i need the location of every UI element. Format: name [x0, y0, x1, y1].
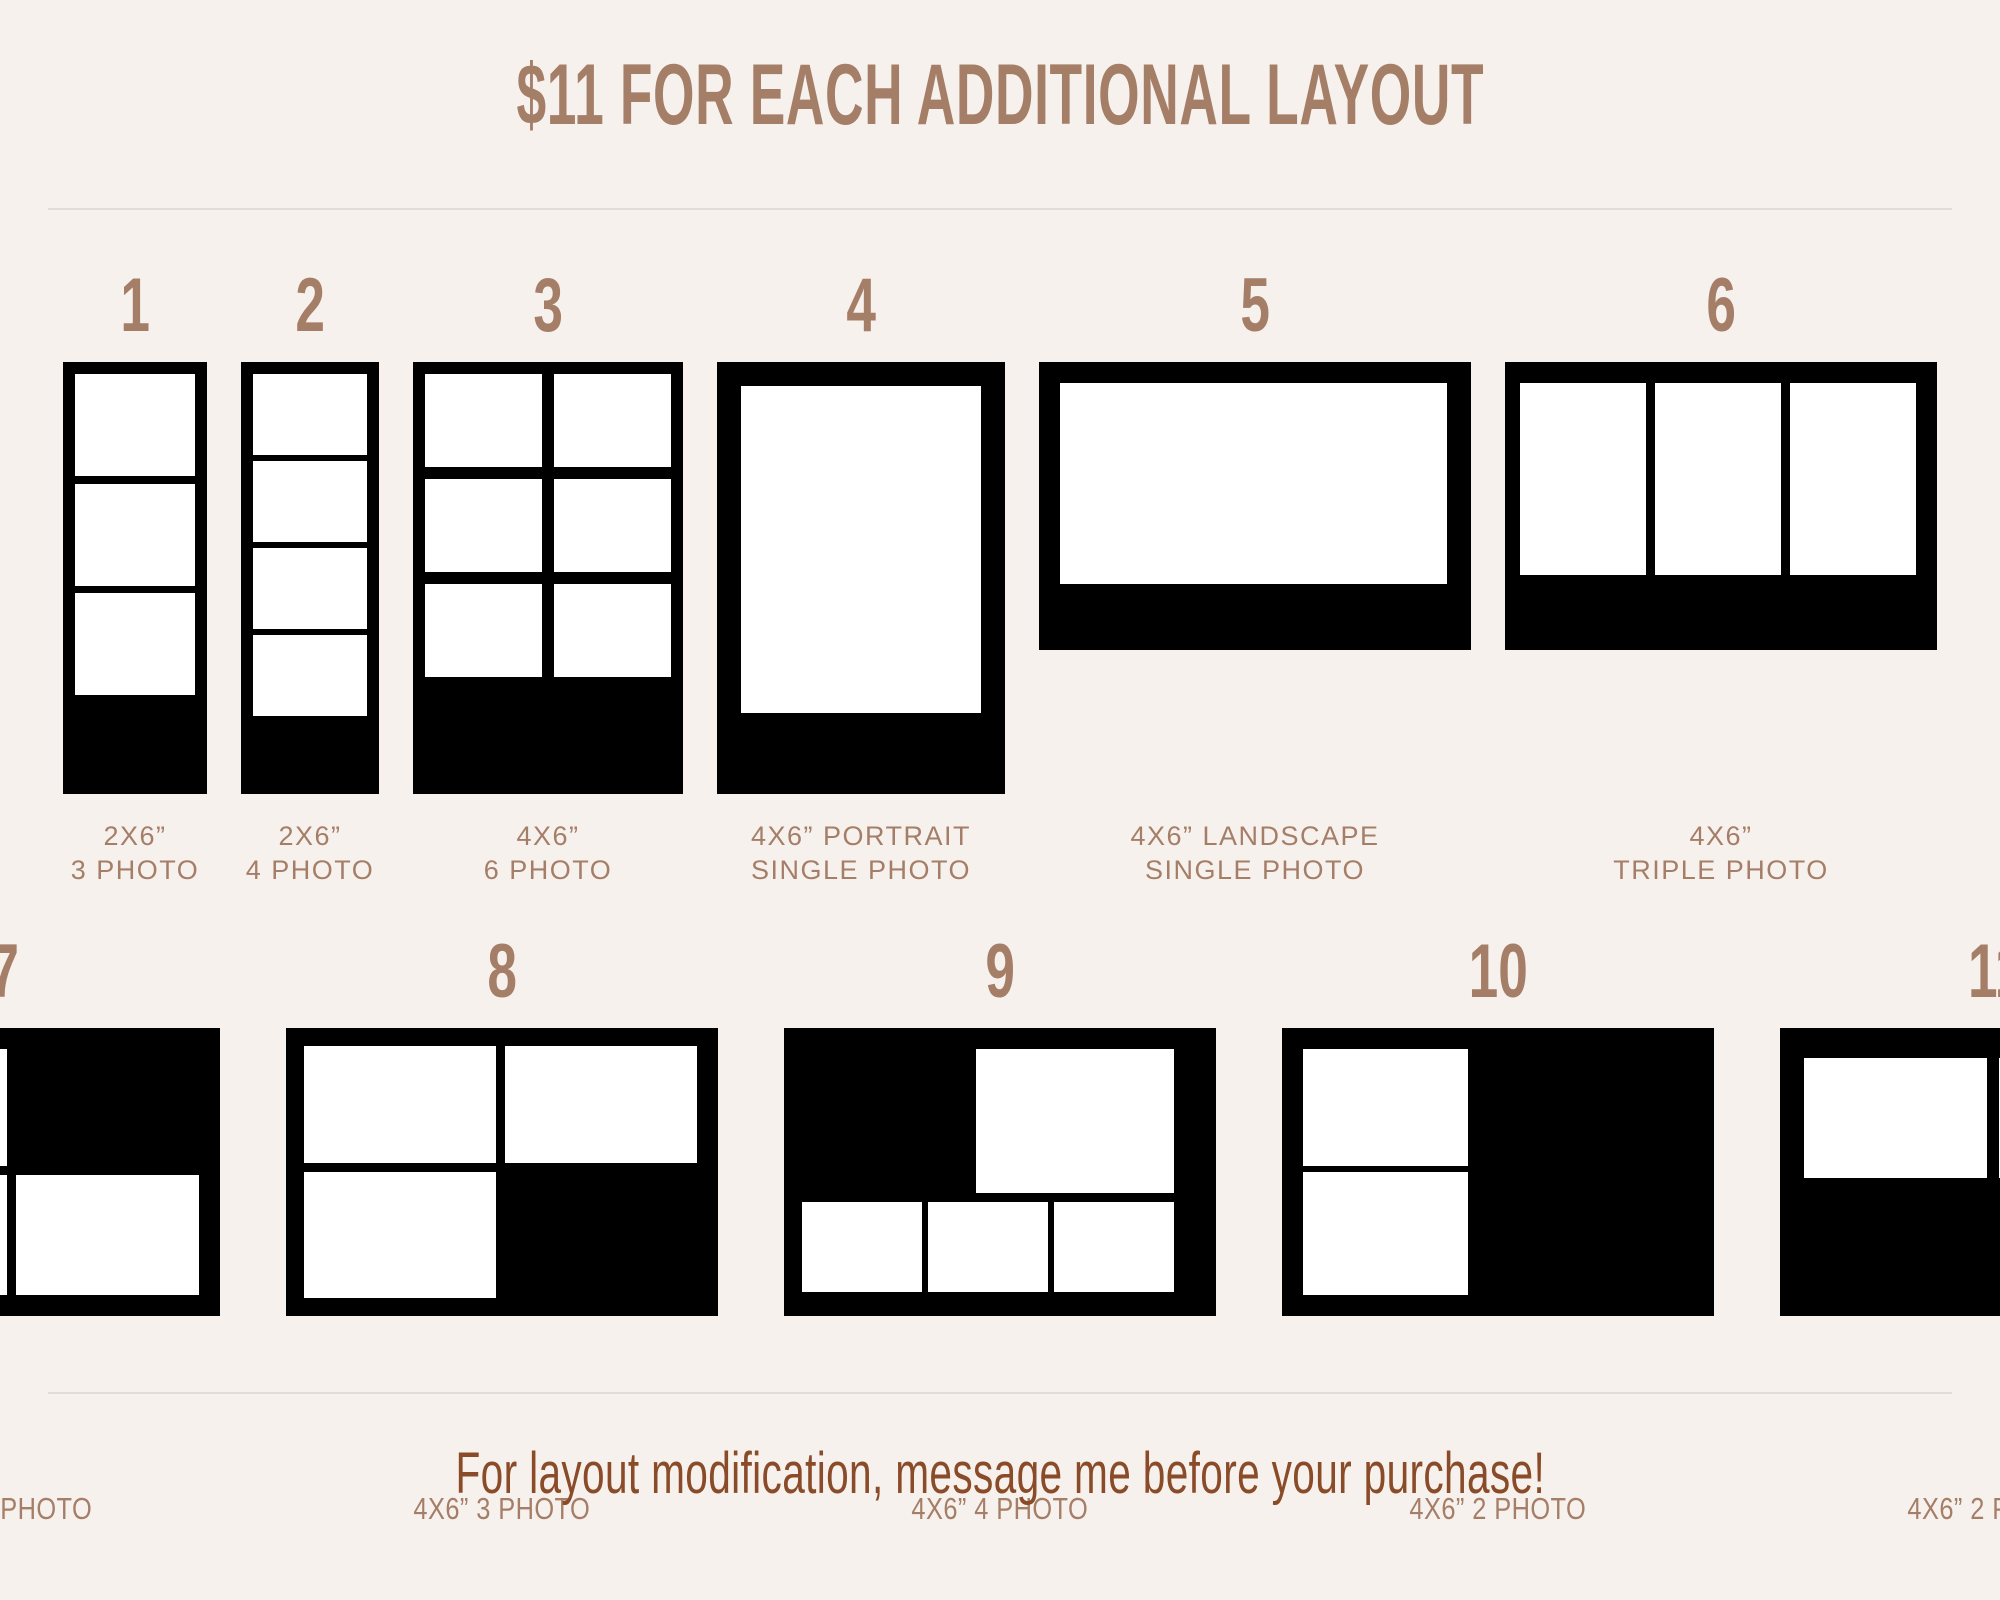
- page-title: $11 FOR EACH ADDITIONAL LAYOUT: [516, 52, 1484, 138]
- layout-option-5[interactable]: 54X6” LANDSCAPESINGLE PHOTO: [1039, 272, 1471, 888]
- photo-slot-1: [976, 1049, 1174, 1193]
- layout-preview: [1282, 1028, 1714, 1460]
- photo-slot-1: [1303, 1049, 1468, 1166]
- layout-number: 11: [1968, 938, 2000, 1006]
- photo-slot-2: [1303, 1172, 1468, 1295]
- caption-line-1: 4X6”: [484, 820, 613, 854]
- layout-option-2[interactable]: 22X6”4 PHOTO: [241, 272, 379, 888]
- layout-price-sheet: $11 FOR EACH ADDITIONAL LAYOUT 12X6”3 PH…: [0, 0, 2000, 1600]
- photo-slot-1: [75, 374, 195, 476]
- layout-preview: [1505, 362, 1937, 794]
- layout-option-1[interactable]: 12X6”3 PHOTO: [63, 272, 207, 888]
- layout-preview: [0, 1028, 220, 1460]
- photo-frame: [717, 362, 1005, 794]
- layout-preview: [784, 1028, 1216, 1460]
- photo-slot-2: [802, 1202, 922, 1292]
- photo-slot-2: [75, 484, 195, 586]
- photo-frame: [1282, 1028, 1714, 1316]
- photo-slot-2: [253, 461, 367, 542]
- photo-slot-2: [554, 374, 671, 467]
- caption-line-1: 4X6” PORTRAIT: [751, 820, 971, 854]
- caption-line-2: SINGLE PHOTO: [1130, 854, 1379, 888]
- photo-frame: [63, 362, 207, 794]
- caption-line-2: 3 PHOTO: [71, 854, 200, 888]
- caption-line-1: 4X6”: [1613, 820, 1829, 854]
- caption-line-2: 6 PHOTO: [484, 854, 613, 888]
- photo-slot-3: [928, 1202, 1048, 1292]
- photo-frame: [1780, 1028, 2000, 1316]
- layout-option-3[interactable]: 34X6”6 PHOTO: [413, 272, 683, 888]
- caption-line-2: SINGLE PHOTO: [751, 854, 971, 888]
- layout-number: 3: [533, 272, 563, 340]
- photo-slot-2: [0, 1175, 7, 1295]
- divider-top: [48, 208, 1952, 210]
- footer-note: For layout modification, message me befo…: [455, 1440, 1545, 1507]
- layout-caption: 4X6” PORTRAITSINGLE PHOTO: [751, 820, 971, 888]
- layout-caption: 2X6”4 PHOTO: [246, 820, 375, 888]
- photo-slot-1: [741, 386, 981, 713]
- photo-slot-3: [16, 1175, 199, 1295]
- layout-option-6[interactable]: 64X6”TRIPLE PHOTO: [1505, 272, 1937, 888]
- layout-preview: [63, 362, 207, 794]
- photo-slot-1: [1060, 383, 1447, 584]
- caption-line-1: 2X6”: [71, 820, 200, 854]
- caption-line-2: TRIPLE PHOTO: [1613, 854, 1829, 888]
- photo-frame: [241, 362, 379, 794]
- layout-preview: [286, 1028, 718, 1460]
- photo-frame: [0, 1028, 220, 1316]
- photo-frame: [286, 1028, 718, 1316]
- photo-slot-2: [1655, 383, 1781, 575]
- layout-option-4[interactable]: 44X6” PORTRAITSINGLE PHOTO: [717, 272, 1005, 888]
- photo-slot-3: [253, 548, 367, 629]
- photo-frame: [1505, 362, 1937, 650]
- divider-bottom: [48, 1392, 1952, 1394]
- photo-slot-4: [1054, 1202, 1174, 1292]
- photo-slot-3: [304, 1172, 496, 1298]
- photo-slot-2: [505, 1046, 697, 1163]
- layout-caption: 4X6”TRIPLE PHOTO: [1613, 820, 1829, 888]
- photo-slot-1: [1520, 383, 1646, 575]
- layout-number: 7: [0, 938, 19, 1006]
- layout-number: 9: [985, 938, 1015, 1006]
- photo-slot-6: [554, 584, 671, 677]
- layout-preview: [717, 362, 1005, 794]
- layout-row-1: 12X6”3 PHOTO22X6”4 PHOTO34X6”6 PHOTO44X6…: [0, 272, 2000, 888]
- layout-number: 4: [846, 272, 876, 340]
- caption-line-1: 4X6” LANDSCAPE: [1130, 820, 1379, 854]
- layout-number: 10: [1468, 938, 1527, 1006]
- layout-preview: [241, 362, 379, 794]
- photo-slot-1: [1804, 1058, 1987, 1178]
- photo-frame: [1039, 362, 1471, 650]
- photo-frame: [784, 1028, 1216, 1316]
- layout-preview: [413, 362, 683, 794]
- photo-slot-1: [253, 374, 367, 455]
- photo-frame: [413, 362, 683, 794]
- layout-caption: 2X6”3 PHOTO: [71, 820, 200, 888]
- photo-slot-1: [0, 1049, 7, 1166]
- photo-slot-5: [425, 584, 542, 677]
- layout-caption: 4X6”6 PHOTO: [484, 820, 613, 888]
- caption-line-2: 4 PHOTO: [246, 854, 375, 888]
- photo-slot-4: [554, 479, 671, 572]
- layout-preview: [1780, 1028, 2000, 1460]
- layout-number: 6: [1706, 272, 1736, 340]
- layout-caption: 4X6” LANDSCAPESINGLE PHOTO: [1130, 820, 1379, 888]
- photo-slot-3: [1790, 383, 1916, 575]
- footer: For layout modification, message me befo…: [0, 1440, 2000, 1507]
- layout-number: 1: [120, 272, 150, 340]
- photo-slot-1: [425, 374, 542, 467]
- layout-number: 8: [487, 938, 517, 1006]
- photo-slot-3: [425, 479, 542, 572]
- header: $11 FOR EACH ADDITIONAL LAYOUT: [0, 0, 2000, 138]
- caption-line-1: 2X6”: [246, 820, 375, 854]
- layout-number: 2: [295, 272, 325, 340]
- photo-slot-4: [253, 635, 367, 716]
- photo-slot-3: [75, 593, 195, 695]
- photo-slot-1: [304, 1046, 496, 1163]
- layout-preview: [1039, 362, 1471, 794]
- layout-number: 5: [1240, 272, 1270, 340]
